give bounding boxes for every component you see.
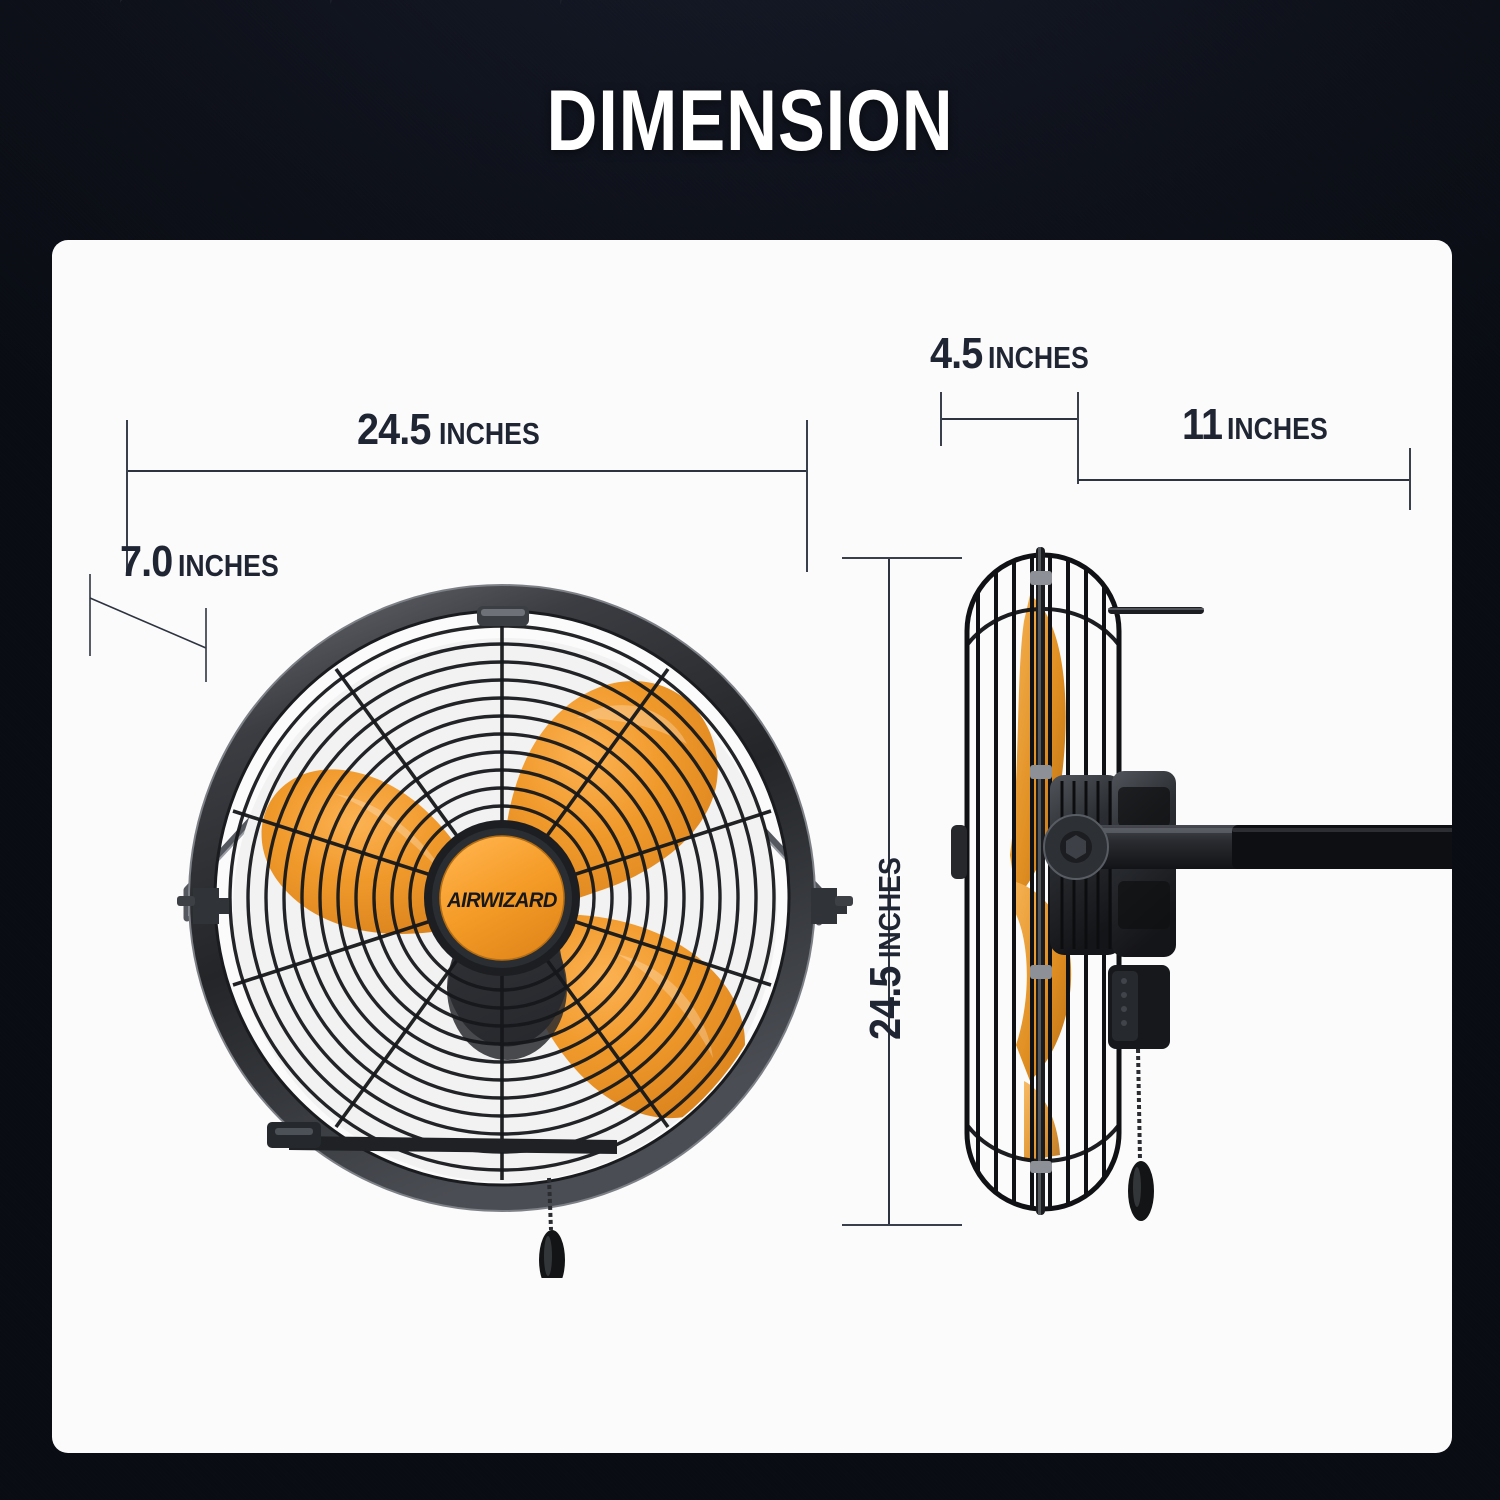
dim-tick-front-width-right (806, 420, 808, 572)
page-title: DIMENSION (135, 72, 1365, 171)
dim-tick-side-depth-right (1077, 392, 1079, 484)
dim-line-bracket (1078, 479, 1410, 481)
dim-tick-bracket-right (1409, 448, 1411, 510)
dim-tick-side-height-bottom (842, 1224, 962, 1226)
cage-clip-right (811, 888, 853, 924)
control-box (1108, 965, 1170, 1049)
side-pull-chain (1128, 1049, 1154, 1221)
dim-label-side-height: 24.5INCHES (864, 841, 908, 1040)
dim-tick-side-height-top (842, 557, 962, 559)
dim-label-side-depth: 4.5INCHES (930, 332, 1105, 376)
dim-line-front-width (126, 470, 808, 472)
screenshot-root: DIMENSION (0, 0, 1500, 1500)
top-rod (1108, 607, 1204, 614)
side-view-illustration (912, 525, 1452, 1265)
dim-line-side-depth (940, 418, 1078, 420)
dim-label-front-depth: 7.0INCHES (120, 540, 295, 584)
dim-label-front-width: 24.5INCHES (357, 408, 556, 452)
dim-tick-side-depth-left (940, 392, 942, 446)
diagram-panel: AIRWIZARD (52, 240, 1452, 1453)
dim-label-bracket: 11INCHES (1182, 403, 1344, 447)
hub-logo-text: AIRWIZARD (446, 889, 557, 912)
